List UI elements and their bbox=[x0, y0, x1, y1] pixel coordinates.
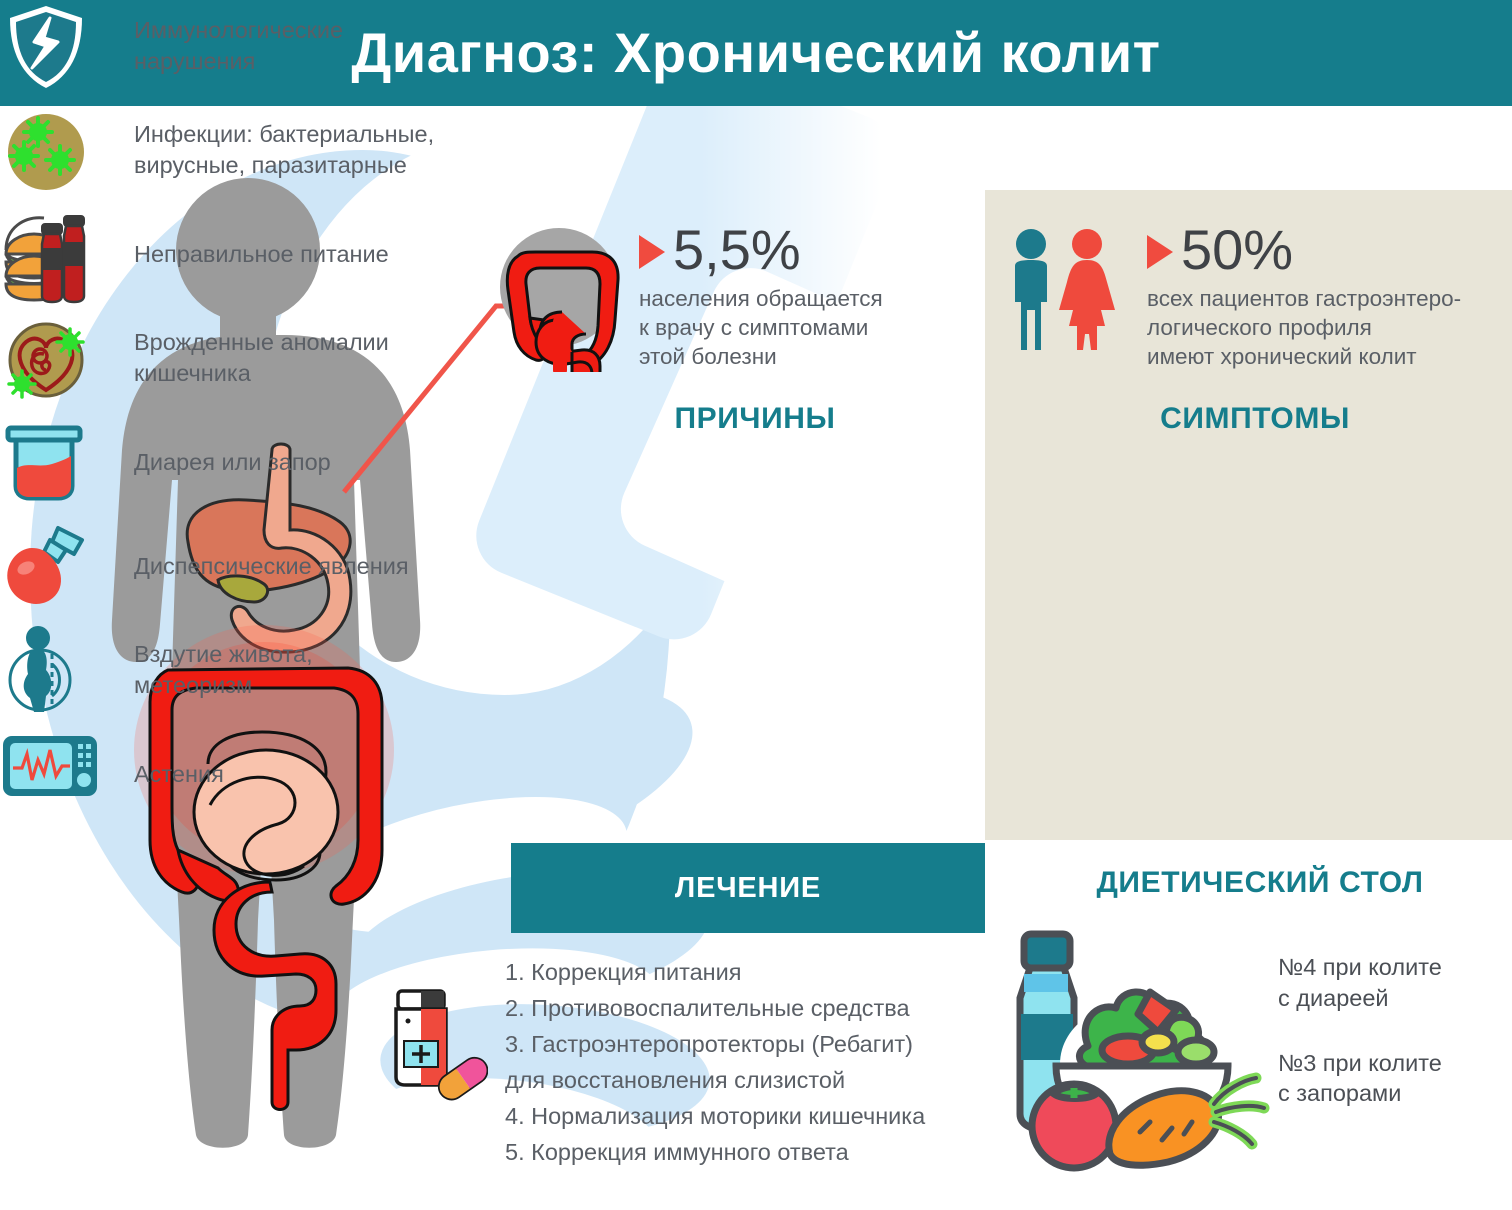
stat-description: населения обращается к врачу с симптомам… bbox=[639, 285, 883, 371]
fast-food-icon bbox=[0, 208, 92, 300]
diet-section-title: ДИЕТИЧЕСКИЙ СТОЛ bbox=[1020, 866, 1500, 900]
symptom-item-bloating: Вздутие живота, метеоризм bbox=[0, 624, 313, 716]
diet-line: №4 при колите с диареей bbox=[1278, 952, 1442, 1013]
medicine-bottle-icon bbox=[378, 985, 488, 1108]
symptom-item-diarrhea: Диарея или запор bbox=[0, 416, 331, 508]
cause-label: Инфекции: бактериальные, вирусные, параз… bbox=[134, 119, 434, 180]
stat-block-prevalence: 5,5% населения обращается к врачу с симп… bbox=[495, 222, 883, 371]
treatment-section-title: ЛЕЧЕНИЕ bbox=[511, 843, 985, 933]
stat-value: 50% bbox=[1181, 222, 1293, 278]
stat-description: всех пациентов гастроэнтеро- логического… bbox=[1147, 285, 1461, 371]
triangle-marker-icon bbox=[639, 235, 665, 269]
triangle-marker-icon bbox=[1147, 235, 1173, 269]
page-title: Диагноз: Хронический колит bbox=[351, 25, 1160, 81]
bloating-figure-icon bbox=[0, 624, 92, 716]
cause-label: Иммунологические нарушения bbox=[134, 15, 343, 76]
symptom-label: Вздутие живота, метеоризм bbox=[134, 639, 313, 700]
broken-shield-icon bbox=[0, 0, 92, 92]
enema-bulb-icon bbox=[0, 520, 92, 612]
symptom-item-asthenia: Астения bbox=[0, 728, 224, 820]
treatment-title-text: ЛЕЧЕНИЕ bbox=[675, 872, 821, 905]
healthy-food-icon bbox=[1000, 918, 1272, 1178]
diet-section: №4 при колите с диареей №3 при колите с … bbox=[1000, 905, 1512, 1190]
beaker-icon bbox=[0, 416, 92, 508]
embryo-icon bbox=[0, 312, 92, 404]
cause-item-infections: Инфекции: бактериальные, вирусные, параз… bbox=[0, 104, 434, 196]
treatment-list: 1. Коррекция питания 2. Противовоспалите… bbox=[505, 955, 1025, 1171]
cause-item-congenital: Врожденные аномалии кишечника bbox=[0, 312, 389, 404]
treatment-item: 5. Коррекция иммунного ответа bbox=[505, 1135, 1025, 1171]
symptom-label: Астения bbox=[134, 759, 224, 790]
symptom-label: Диспепсические явления bbox=[134, 551, 409, 582]
diet-line: №3 при колите с запорами bbox=[1278, 1048, 1442, 1109]
cause-item-immunological: Иммунологические нарушения bbox=[0, 0, 343, 92]
treatment-item: 2. Противовоспалительные средства bbox=[505, 991, 1025, 1027]
symptoms-section-title: СИМПТОМЫ bbox=[1060, 402, 1450, 436]
cause-label: Неправильное питание bbox=[134, 239, 389, 270]
cause-item-nutrition: Неправильное питание bbox=[0, 208, 389, 300]
treatment-item: 3. Гастроэнтеропротекторы (Ребагит) для … bbox=[505, 1027, 1025, 1099]
stat-value: 5,5% bbox=[673, 222, 801, 278]
treatment-item: 4. Нормализация моторики кишечника bbox=[505, 1099, 1025, 1135]
treatment-item: 1. Коррекция питания bbox=[505, 955, 1025, 991]
stat-block-share: 50% всех пациентов гастроэнтеро- логичес… bbox=[1005, 222, 1461, 371]
bacteria-circle-icon bbox=[0, 104, 92, 196]
symptom-label: Диарея или запор bbox=[134, 447, 331, 478]
symptom-item-dyspepsia: Диспепсические явления bbox=[0, 520, 409, 612]
cause-label: Врожденные аномалии кишечника bbox=[134, 327, 389, 388]
infographic-root: Диагноз: Хронический колит bbox=[0, 0, 1512, 1210]
ecg-monitor-icon bbox=[0, 728, 92, 820]
causes-section-title: ПРИЧИНЫ bbox=[560, 402, 950, 436]
